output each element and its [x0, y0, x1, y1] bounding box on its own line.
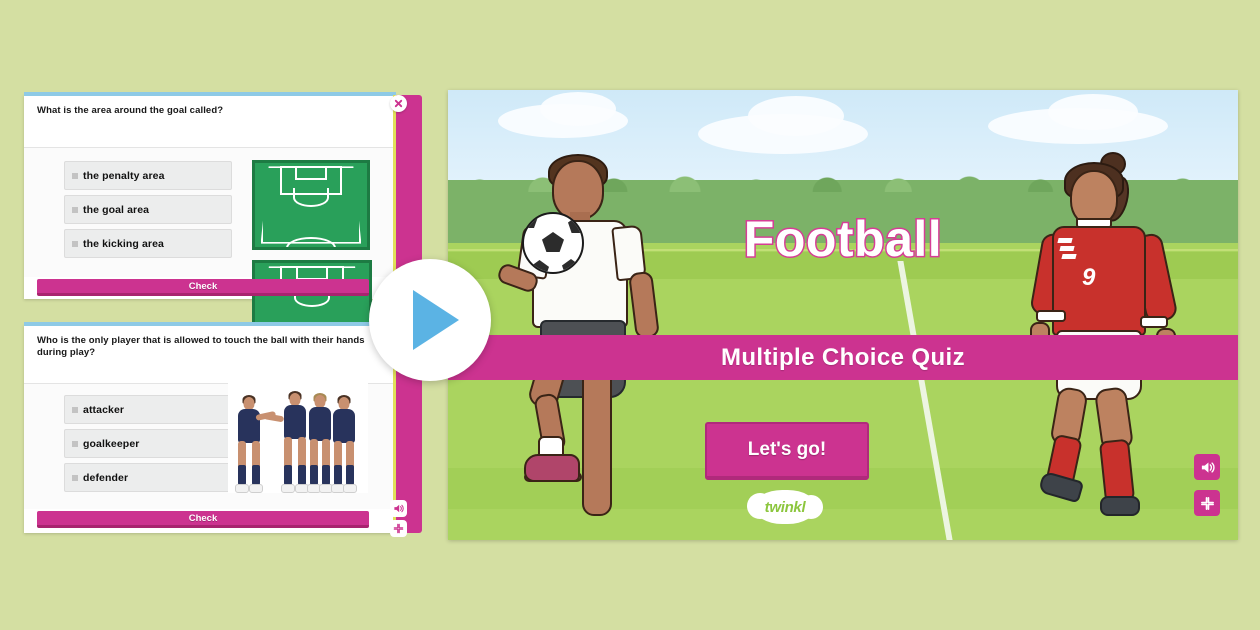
ball-panel	[562, 259, 580, 274]
subtitle-band: Multiple Choice Quiz	[448, 335, 1238, 380]
player-figure	[330, 397, 358, 493]
ball-panel	[522, 212, 538, 228]
card-volume-button[interactable]	[390, 500, 407, 517]
answer-option[interactable]: defender	[64, 463, 232, 492]
pitch-goal-box	[295, 166, 326, 179]
pitch-penalty-arc	[293, 188, 329, 206]
option-checkbox-icon	[72, 207, 78, 213]
player-torso	[333, 409, 355, 443]
jersey-cuff	[1140, 316, 1168, 328]
option-checkbox-icon	[72, 475, 78, 481]
player-sock	[1099, 439, 1135, 504]
twinkl-logo: twinkl	[754, 490, 816, 524]
player-torso	[284, 405, 306, 439]
pitch-goal-box	[296, 266, 328, 279]
ball-panel	[542, 232, 564, 252]
question-text: Who is the only player that is allowed t…	[37, 335, 367, 359]
cloud	[540, 92, 616, 126]
answer-option[interactable]: the goal area	[64, 195, 232, 224]
player-shoe	[281, 484, 295, 493]
player-sock	[334, 465, 342, 485]
speaker-icon	[1200, 460, 1215, 475]
player-sock	[298, 465, 306, 485]
player-sock	[284, 465, 292, 485]
player-sock	[310, 465, 318, 485]
answer-options-1: the penalty area the goal area the kicki…	[64, 161, 232, 263]
ball-panel	[530, 260, 549, 274]
football-icon	[522, 212, 584, 274]
cloud	[748, 96, 844, 136]
answer-option[interactable]: the kicking area	[64, 229, 232, 258]
question-text: What is the area around the goal called?	[37, 105, 357, 117]
player-sock	[238, 465, 246, 485]
player-shoe	[524, 454, 580, 482]
title-slide[interactable]: Football	[448, 90, 1238, 540]
player-standing-leg	[582, 356, 612, 516]
player-sock	[322, 465, 330, 485]
option-checkbox-icon	[72, 441, 78, 447]
lets-go-label: Let's go!	[748, 439, 826, 461]
option-checkbox-icon	[72, 173, 78, 179]
lets-go-button[interactable]: Let's go!	[705, 422, 869, 480]
screenshot-canvas: What is the area around the goal called?…	[0, 0, 1260, 630]
twinkl-logo-text: twinkl	[765, 499, 806, 516]
option-label: the kicking area	[83, 238, 164, 250]
check-button-2[interactable]: Check	[37, 511, 369, 528]
fullscreen-exit-icon	[393, 523, 404, 534]
play-button-overlay[interactable]	[369, 259, 491, 381]
option-label: goalkeeper	[83, 438, 139, 450]
option-checkbox-icon	[72, 241, 78, 247]
option-checkbox-icon	[72, 407, 78, 413]
player-shoe	[235, 484, 249, 493]
jersey-cuff	[1036, 310, 1066, 322]
fullscreen-exit-icon	[1200, 496, 1215, 511]
jersey-chevron	[1061, 254, 1076, 259]
slide-subtitle: Multiple Choice Quiz	[721, 344, 965, 372]
player-head	[552, 160, 604, 220]
celebrating-players-illustration	[228, 383, 368, 493]
card-fullscreen-exit-button[interactable]	[390, 520, 407, 537]
volume-button[interactable]	[1194, 454, 1220, 480]
player-arm	[263, 413, 284, 422]
player-shoe	[249, 484, 263, 493]
option-label: the goal area	[83, 204, 149, 216]
check-button-1[interactable]: Check	[37, 279, 369, 296]
player-torso	[309, 407, 331, 441]
player-sock	[346, 465, 354, 485]
close-icon	[394, 99, 403, 108]
player-figure	[234, 397, 264, 493]
option-label: attacker	[83, 404, 124, 416]
answer-option[interactable]: attacker	[64, 395, 232, 424]
jersey-number: 9	[1082, 264, 1095, 292]
answer-option[interactable]: goalkeeper	[64, 429, 232, 458]
jersey-chevron	[1057, 238, 1072, 243]
football-pitch-illustration	[252, 160, 370, 250]
jersey-chevron	[1059, 246, 1074, 251]
answer-option[interactable]: the penalty area	[64, 161, 232, 190]
option-label: the penalty area	[83, 170, 165, 182]
player-boot	[1100, 496, 1140, 516]
play-triangle-icon	[413, 290, 459, 350]
fullscreen-exit-button[interactable]	[1194, 490, 1220, 516]
player-sock	[252, 465, 260, 485]
option-label: defender	[83, 472, 128, 484]
answer-options-2: attacker goalkeeper defender	[64, 395, 232, 497]
player-shoe	[343, 484, 357, 493]
speaker-icon	[393, 503, 404, 514]
cloud	[1048, 94, 1138, 130]
close-button[interactable]	[390, 95, 407, 112]
